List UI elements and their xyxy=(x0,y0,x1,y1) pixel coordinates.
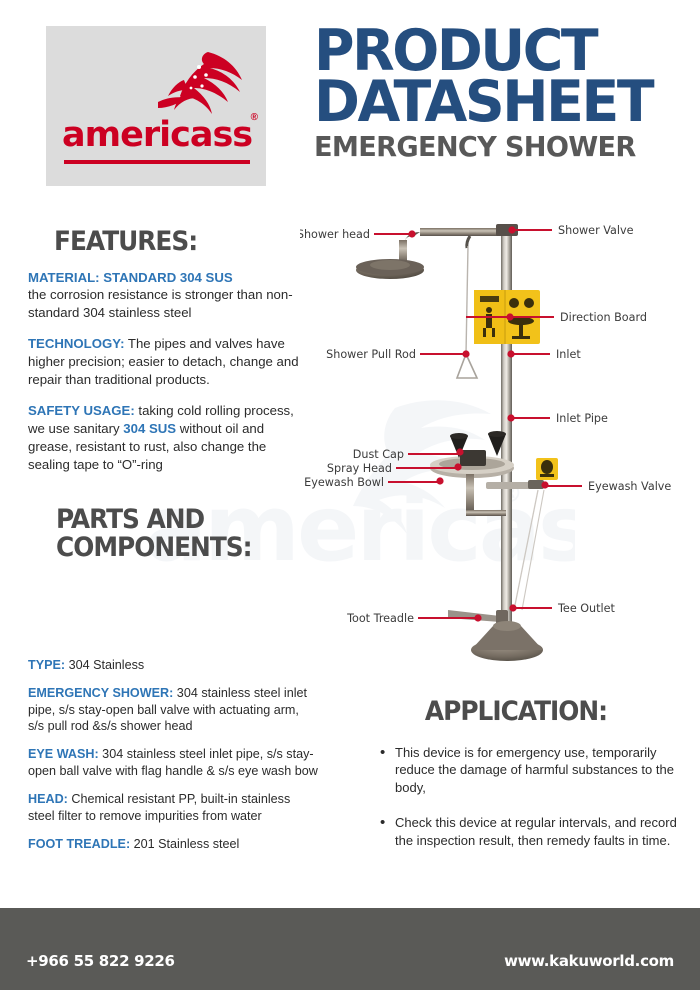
page-title: PRODUCT DATASHEET EMERGENCY SHOWER xyxy=(314,28,684,161)
label-eyewash-bowl: Eyewash Bowl xyxy=(304,476,384,489)
logo-underline xyxy=(64,160,250,164)
feature-safety-key: SAFETY USAGE: xyxy=(28,403,135,418)
feature-material-key: MATERIAL: STANDARD 304 SUS xyxy=(28,270,233,285)
label-shower-head: Shower head xyxy=(300,228,370,241)
title-line-2: DATASHEET xyxy=(314,79,673,127)
parts-section: TYPE: 304 Stainless EMERGENCY SHOWER: 30… xyxy=(28,645,318,852)
part-head-body: Chemical resistant PP, built-in stainles… xyxy=(28,792,290,822)
feature-technology: TECHNOLOGY: The pipes and valves have hi… xyxy=(28,335,306,389)
features-heading: FEATURES: xyxy=(54,228,286,256)
label-inlet-pipe: Inlet Pipe xyxy=(556,412,608,425)
list-item: This device is for emergency use, tempor… xyxy=(378,744,678,798)
part-type: TYPE: 304 Stainless xyxy=(28,657,318,673)
title-subtitle: EMERGENCY SHOWER xyxy=(314,133,673,161)
label-inlet: Inlet xyxy=(556,348,581,361)
part-head: HEAD: Chemical resistant PP, built-in st… xyxy=(28,791,318,824)
label-shower-valve: Shower Valve xyxy=(558,224,634,237)
application-heading: APPLICATION: xyxy=(378,698,654,726)
page-footer: +966 55 822 9226 www.kakuworld.com xyxy=(0,908,700,990)
label-eyewash-valve: Eyewash Valve xyxy=(588,480,671,493)
feature-material-body: the corrosion resistance is stronger tha… xyxy=(28,287,293,320)
part-foot-treadle: FOOT TREADLE: 201 Stainless steel xyxy=(28,836,318,852)
part-type-key: TYPE: xyxy=(28,658,65,672)
contact-phone[interactable]: +966 55 822 9226 xyxy=(26,952,175,970)
label-direction-board: Direction Board xyxy=(560,311,647,324)
part-foot-treadle-key: FOOT TREADLE: xyxy=(28,837,130,851)
contact-website[interactable]: www.kakuworld.com xyxy=(504,952,674,970)
brand-logo: americass ® xyxy=(46,26,266,186)
feature-safety-highlight: 304 SUS xyxy=(123,421,176,436)
features-section: FEATURES: MATERIAL: STANDARD 304 SUS the… xyxy=(28,228,306,561)
datasheet-page: americass ® am xyxy=(0,0,700,990)
list-item: Check this device at regular intervals, … xyxy=(378,814,678,850)
label-spray-head: Spray Head xyxy=(327,462,392,475)
application-list: This device is for emergency use, tempor… xyxy=(378,744,678,851)
label-foot-treadle: Toot Treadle xyxy=(346,612,414,625)
feature-technology-key: TECHNOLOGY: xyxy=(28,336,124,351)
registered-mark-icon: ® xyxy=(251,112,258,123)
label-tee-outlet: Tee Outlet xyxy=(557,602,616,615)
part-head-key: HEAD: xyxy=(28,792,68,806)
part-eye-wash-key: EYE WASH: xyxy=(28,747,99,761)
parts-heading: PARTS AND COMPONENTS: xyxy=(56,506,286,561)
eagle-wing-icon xyxy=(154,50,246,122)
application-section: APPLICATION: This device is for emergenc… xyxy=(378,698,678,867)
feature-material: MATERIAL: STANDARD 304 SUS the corrosion… xyxy=(28,269,306,323)
part-foot-treadle-body: 201 Stainless steel xyxy=(130,837,239,851)
feature-safety-usage: SAFETY USAGE: taking cold rolling proces… xyxy=(28,402,306,474)
label-dust-cap: Dust Cap xyxy=(353,448,404,461)
part-emergency-shower-key: EMERGENCY SHOWER: xyxy=(28,686,173,700)
part-eye-wash: EYE WASH: 304 stainless steel inlet pipe… xyxy=(28,746,318,779)
part-emergency-shower: EMERGENCY SHOWER: 304 stainless steel in… xyxy=(28,685,318,734)
parts-heading-line-1: PARTS AND xyxy=(56,506,286,534)
brand-wordmark: americass xyxy=(62,118,252,153)
label-shower-pull-rod: Shower Pull Rod xyxy=(326,348,416,361)
parts-heading-line-2: COMPONENTS: xyxy=(56,534,286,562)
product-diagram: Shower head Shower Pull Rod Dust Cap Spr… xyxy=(300,206,700,676)
part-type-body: 304 Stainless xyxy=(65,658,144,672)
